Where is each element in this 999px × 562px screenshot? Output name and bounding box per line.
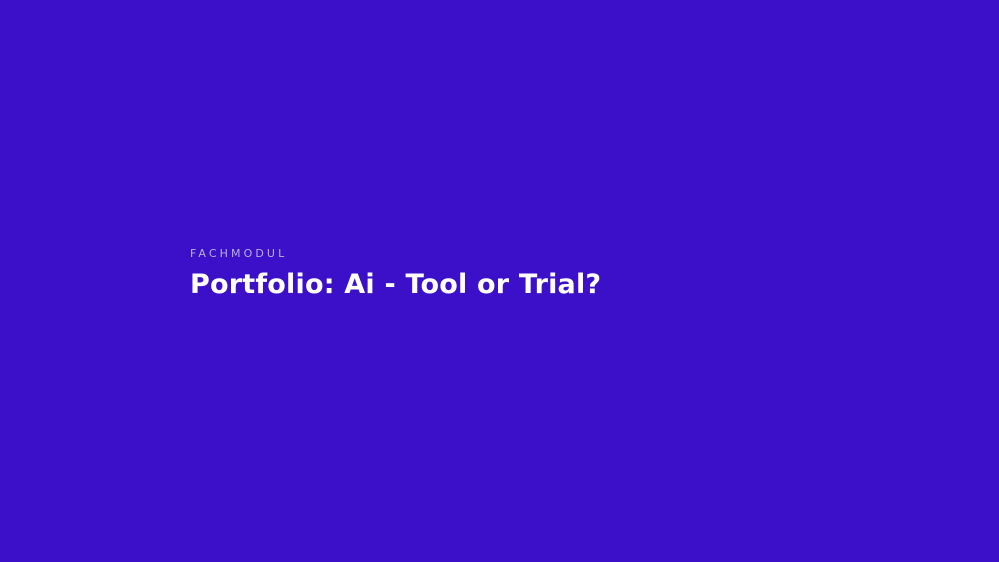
slide-eyebrow-label: FACHMODUL	[190, 246, 287, 262]
title-block: FACHMODUL Portfolio: Ai - Tool or Trial?	[190, 246, 601, 302]
slide-title: Portfolio: Ai - Tool or Trial?	[190, 268, 601, 302]
title-slide: FACHMODUL Portfolio: Ai - Tool or Trial?	[0, 0, 999, 562]
